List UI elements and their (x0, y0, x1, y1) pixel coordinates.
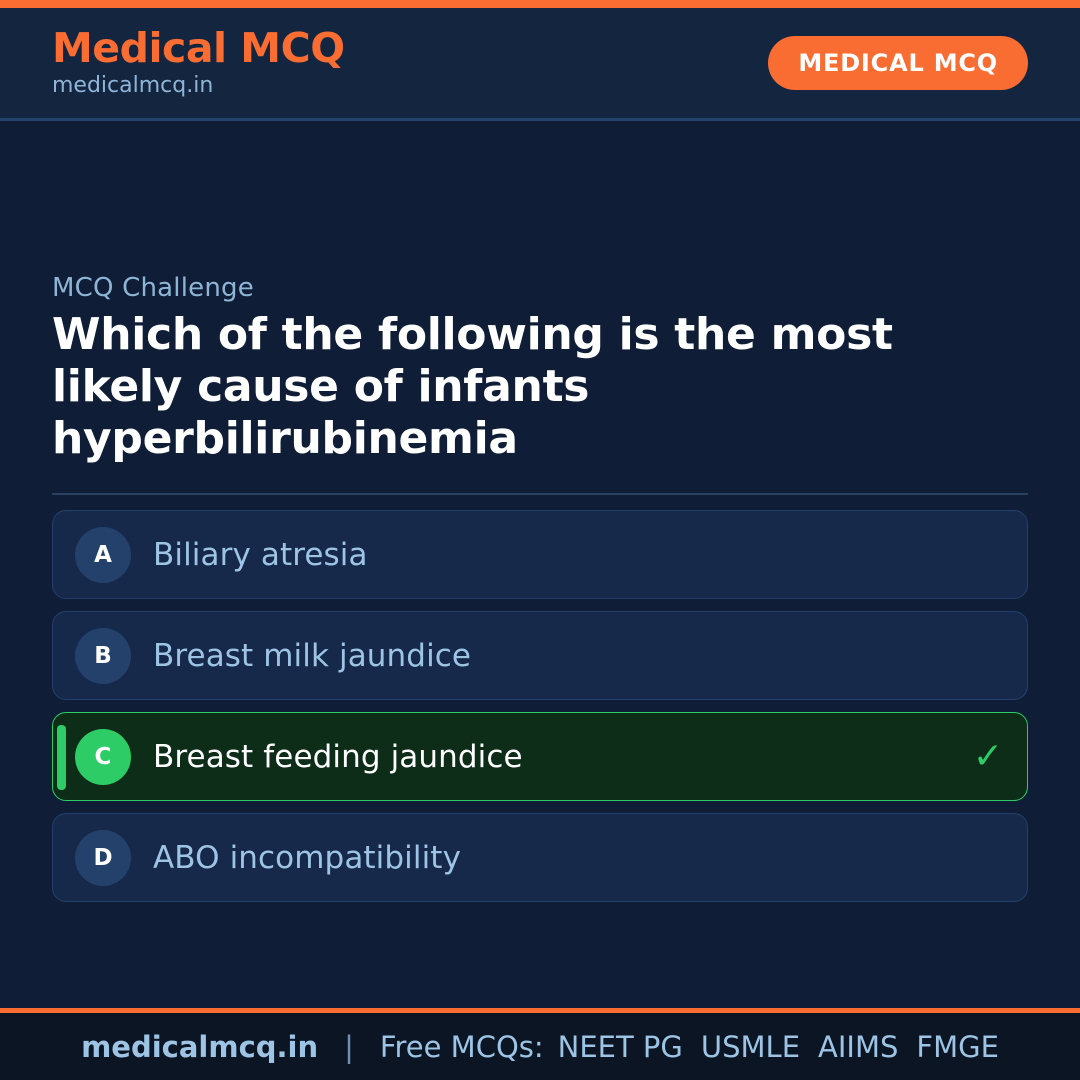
footer-label: Free MCQs: (380, 1030, 544, 1064)
header-badge: MEDICAL MCQ (768, 36, 1028, 90)
eyebrow-label: MCQ Challenge (52, 273, 254, 303)
footer-content: medicalmcq.in | Free MCQs: NEET PG USMLE… (81, 1030, 999, 1064)
option-label: Breast milk jaundice (153, 638, 973, 674)
option-letter-badge: C (75, 729, 131, 785)
footer-exam-usmle: USMLE (701, 1030, 800, 1064)
footer-exam-fmge: FMGE (916, 1030, 999, 1064)
footer-exam-aiims: AIIMS (818, 1030, 898, 1064)
option-a[interactable]: A Biliary atresia ✓ (52, 510, 1028, 599)
option-b[interactable]: B Breast milk jaundice ✓ (52, 611, 1028, 700)
footer-separator: | (344, 1030, 354, 1064)
question-divider (52, 493, 1028, 495)
option-c[interactable]: C Breast feeding jaundice ✓ (52, 712, 1028, 801)
top-accent-bar (0, 0, 1080, 8)
option-letter-badge: B (75, 628, 131, 684)
brand: Medical MCQ medicalmcq.in (52, 27, 345, 98)
footer-site: medicalmcq.in (81, 1030, 318, 1064)
footer: medicalmcq.in | Free MCQs: NEET PG USMLE… (0, 1008, 1080, 1080)
question-text: Which of the following is the most likel… (52, 309, 902, 465)
option-d[interactable]: D ABO incompatibility ✓ (52, 813, 1028, 902)
options-list: A Biliary atresia ✓ B Breast milk jaundi… (52, 510, 1028, 902)
option-letter-badge: D (75, 830, 131, 886)
main-content: MCQ Challenge Which of the following is … (0, 121, 1080, 1008)
check-icon: ✓ (973, 739, 1003, 775)
option-label: ABO incompatibility (153, 840, 973, 876)
footer-exam-neet-pg: NEET PG (558, 1030, 683, 1064)
brand-subtitle: medicalmcq.in (52, 74, 345, 98)
correct-accent-bar (57, 725, 66, 790)
option-label: Biliary atresia (153, 537, 973, 573)
option-letter-badge: A (75, 527, 131, 583)
header: Medical MCQ medicalmcq.in MEDICAL MCQ (0, 8, 1080, 121)
brand-title: Medical MCQ (52, 27, 345, 70)
option-label: Breast feeding jaundice (153, 739, 973, 775)
mcq-card: Medical MCQ medicalmcq.in MEDICAL MCQ MC… (0, 0, 1080, 1080)
